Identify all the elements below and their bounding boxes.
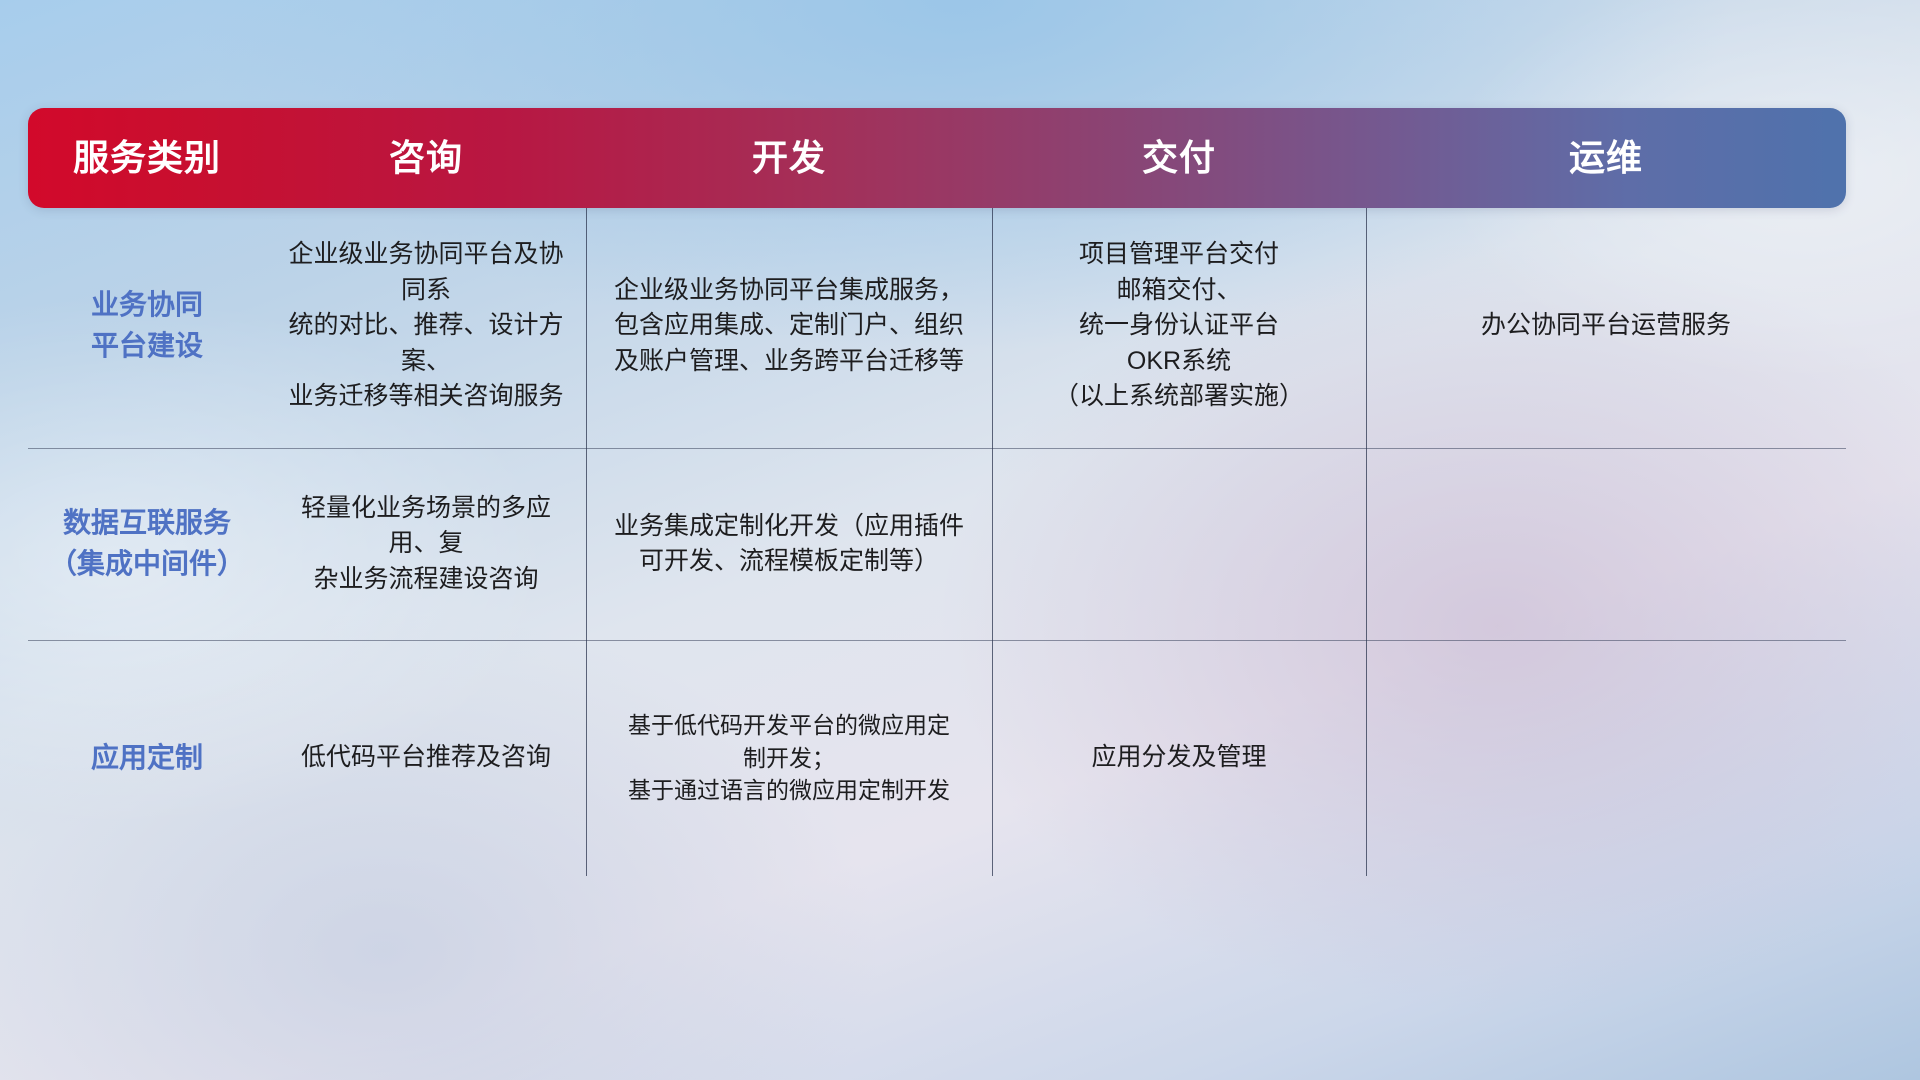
- table-body: 业务协同 平台建设 企业级业务协同平台及协同系 统的对比、推荐、设计方案、 业务…: [28, 204, 1846, 876]
- cell-text: 企业级业务协同平台集成服务， 包含应用集成、定制门户、组织 及账户管理、业务跨平…: [614, 273, 964, 380]
- cell-text: 低代码平台推荐及咨询: [301, 740, 551, 776]
- cell-deliver: [992, 448, 1366, 640]
- cell-develop: 企业级业务协同平台集成服务， 包含应用集成、定制门户、组织 及账户管理、业务跨平…: [586, 204, 992, 448]
- cell-text: 企业级业务协同平台及协同系 统的对比、推荐、设计方案、 业务迁移等相关咨询服务: [280, 237, 572, 415]
- column-header-deliver: 交付: [992, 140, 1366, 176]
- cell-develop: 业务集成定制化开发（应用插件 可开发、流程模板定制等）: [586, 448, 992, 640]
- cell-category: 业务协同 平台建设: [28, 204, 266, 448]
- service-category-table: 服务类别 咨询 开发 交付 运维 业务协同 平台建设 企业级业务协同平台及协同系…: [28, 108, 1846, 780]
- cell-consult: 企业级业务协同平台及协同系 统的对比、推荐、设计方案、 业务迁移等相关咨询服务: [266, 204, 586, 448]
- cell-text: 轻量化业务场景的多应用、复 杂业务流程建设咨询: [280, 491, 572, 598]
- cell-deliver: 应用分发及管理: [992, 640, 1366, 876]
- cell-operate: [1366, 640, 1846, 876]
- cell-consult: 轻量化业务场景的多应用、复 杂业务流程建设咨询: [266, 448, 586, 640]
- table-row: 应用定制 低代码平台推荐及咨询 基于低代码开发平台的微应用定 制开发； 基于通过…: [28, 640, 1846, 876]
- cell-consult: 低代码平台推荐及咨询: [266, 640, 586, 876]
- table-header-row: 服务类别 咨询 开发 交付 运维: [28, 108, 1846, 208]
- cell-category: 数据互联服务 （集成中间件）: [28, 448, 266, 640]
- cell-develop: 基于低代码开发平台的微应用定 制开发； 基于通过语言的微应用定制开发: [586, 640, 992, 876]
- cell-operate: 办公协同平台运营服务: [1366, 204, 1846, 448]
- cell-category: 应用定制: [28, 640, 266, 876]
- column-header-consult: 咨询: [266, 140, 586, 176]
- cell-text: 办公协同平台运营服务: [1481, 308, 1731, 344]
- column-header-operate: 运维: [1366, 140, 1846, 176]
- cell-text: 项目管理平台交付 邮箱交付、 统一身份认证平台 OKR系统 （以上系统部署实施）: [1054, 237, 1304, 415]
- column-header-develop: 开发: [586, 140, 992, 176]
- cell-text: 应用分发及管理: [1091, 740, 1266, 776]
- category-label: 数据互联服务 （集成中间件）: [49, 503, 245, 584]
- category-label: 业务协同 平台建设: [91, 285, 203, 366]
- table-row: 业务协同 平台建设 企业级业务协同平台及协同系 统的对比、推荐、设计方案、 业务…: [28, 204, 1846, 448]
- category-label: 应用定制: [91, 738, 203, 779]
- column-header-category: 服务类别: [28, 140, 266, 176]
- table-row: 数据互联服务 （集成中间件） 轻量化业务场景的多应用、复 杂业务流程建设咨询 业…: [28, 448, 1846, 640]
- cell-operate: [1366, 448, 1846, 640]
- cell-text: 基于低代码开发平台的微应用定 制开发； 基于通过语言的微应用定制开发: [628, 709, 950, 807]
- cell-deliver: 项目管理平台交付 邮箱交付、 统一身份认证平台 OKR系统 （以上系统部署实施）: [992, 204, 1366, 448]
- cell-text: 业务集成定制化开发（应用插件 可开发、流程模板定制等）: [614, 509, 964, 580]
